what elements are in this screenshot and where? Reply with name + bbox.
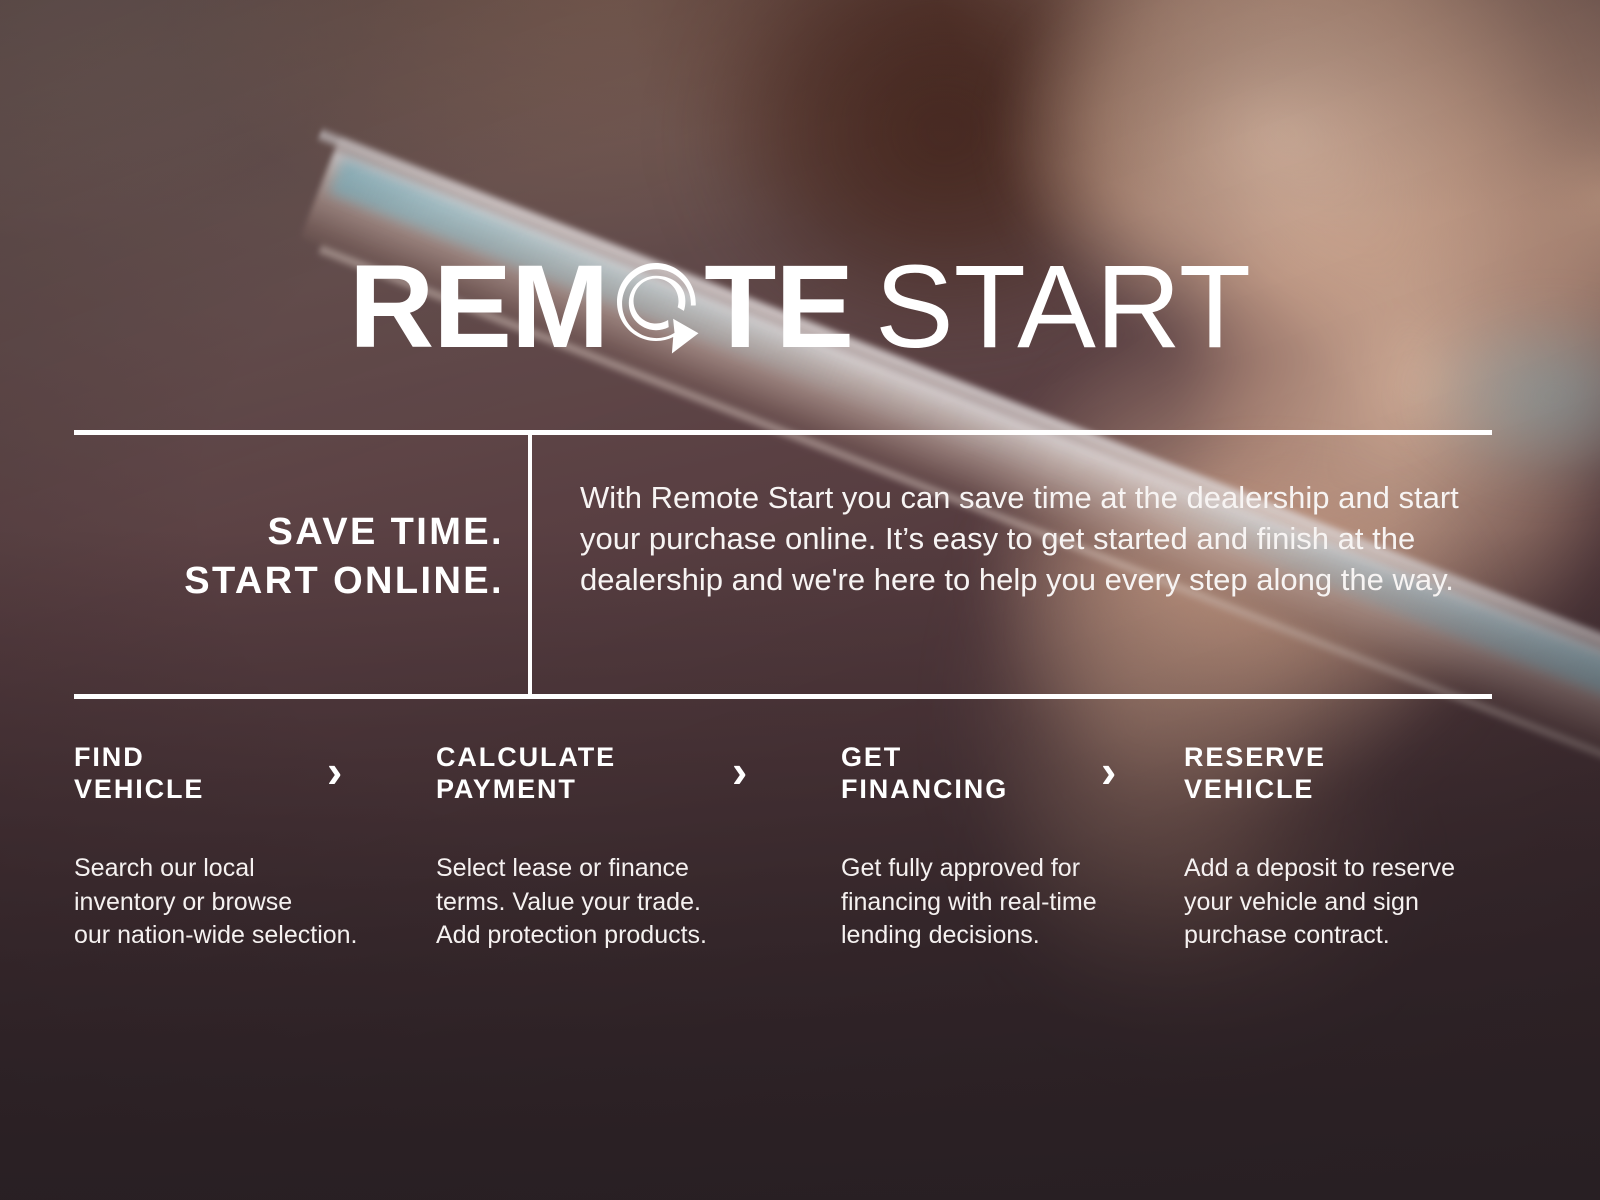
chevron-right-icon: › xyxy=(327,748,342,794)
circular-arrow-o-icon xyxy=(609,259,703,359)
step-title: CALCULATE PAYMENT xyxy=(436,742,841,810)
step-description: Get fully approved for financing with re… xyxy=(841,852,1184,953)
step-description: Add a deposit to reserve your vehicle an… xyxy=(1184,852,1514,953)
divider-rule-bottom xyxy=(74,694,1492,699)
step-get-financing[interactable]: GET FINANCING Get fully approved for fin… xyxy=(841,742,1184,953)
step-description: Select lease or finance terms. Value you… xyxy=(436,852,841,953)
chevron-right-icon: › xyxy=(732,748,747,794)
logo-remote-suffix: TE xyxy=(704,241,853,373)
chevron-right-icon: › xyxy=(1101,748,1116,794)
hero-paragraph: With Remote Start you can save time at t… xyxy=(580,477,1470,601)
hero-headline: SAVE TIME. START ONLINE. xyxy=(74,508,504,605)
step-calculate-payment[interactable]: CALCULATE PAYMENT Select lease or financ… xyxy=(436,742,841,953)
hero-headline-line-2: START ONLINE. xyxy=(74,557,504,606)
hero-headline-line-1: SAVE TIME. xyxy=(74,508,504,557)
step-title: GET FINANCING xyxy=(841,742,1184,810)
remote-start-hero-banner: REMTESTART SAVE TIME. START ONLINE. With… xyxy=(0,0,1600,1200)
step-reserve-vehicle[interactable]: RESERVE VEHICLE Add a deposit to reserve… xyxy=(1184,742,1514,953)
divider-rule-vertical xyxy=(528,435,532,694)
steps-list: FIND VEHICLE Search our local inventory … xyxy=(74,742,1514,953)
logo-remote-prefix: REM xyxy=(349,241,608,373)
banner-content: REMTESTART SAVE TIME. START ONLINE. With… xyxy=(0,0,1600,1200)
brand-logo: REMTESTART xyxy=(0,248,1600,366)
step-description: Search our local inventory or browse our… xyxy=(74,852,436,953)
step-title: RESERVE VEHICLE xyxy=(1184,742,1514,810)
step-title: FIND VEHICLE xyxy=(74,742,436,810)
logo-start-word: START xyxy=(875,241,1251,373)
divider-rule-top xyxy=(74,430,1492,435)
step-find-vehicle[interactable]: FIND VEHICLE Search our local inventory … xyxy=(74,742,436,953)
